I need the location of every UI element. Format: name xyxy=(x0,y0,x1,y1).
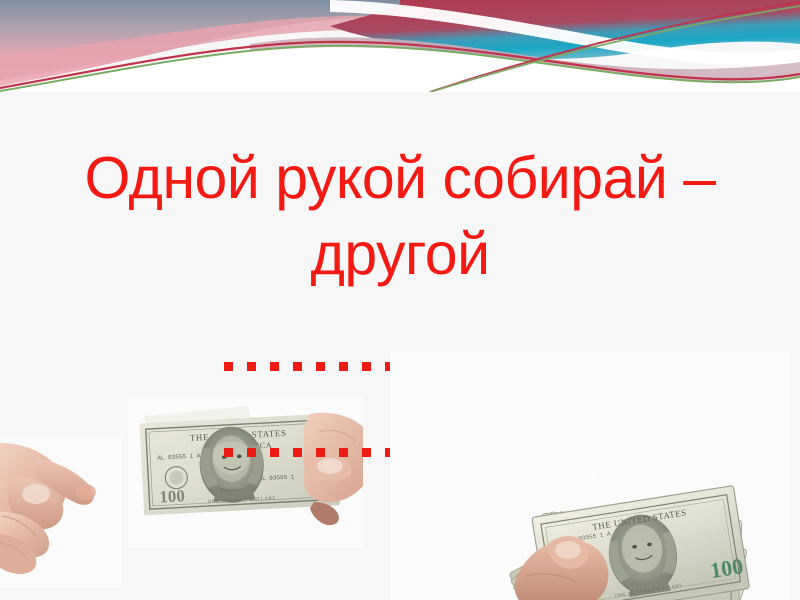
open-hand-reaching-image xyxy=(0,438,122,588)
ellipsis-dot xyxy=(339,362,348,371)
ellipsis-dot xyxy=(362,448,371,457)
presentation-slide: Одной рукой собирай – другой xyxy=(0,0,800,600)
fingernail xyxy=(22,484,50,504)
decorative-wave-banner xyxy=(0,0,800,92)
slide-title: Одной рукой собирай – другой xyxy=(20,140,780,292)
ellipsis-dot xyxy=(247,448,256,457)
bill-value-left: 100 xyxy=(159,486,185,506)
ellipsis-dot xyxy=(224,362,233,371)
hand-holding-bill-image: THE UNITED STATES OF AMERICA AL 03555 1 … xyxy=(128,398,363,548)
ellipsis-dot xyxy=(247,362,256,371)
stock-photo-watermark: 123RF xyxy=(551,469,621,491)
fan-of-bills-image: 100 100 100 xyxy=(390,352,790,600)
ellipsis-dot xyxy=(339,448,348,457)
ellipsis-dot xyxy=(270,448,279,457)
fan-bill-value: 100 xyxy=(708,553,745,583)
ellipsis-dot xyxy=(224,448,233,457)
ellipsis-dot xyxy=(293,362,302,371)
fan-thumbnail xyxy=(555,541,581,559)
index-fingertip xyxy=(76,484,96,500)
ellipsis-dot xyxy=(362,362,371,371)
thumbnail xyxy=(317,458,343,474)
bill-signature: Treasurer xyxy=(219,488,239,494)
ellipsis-dot xyxy=(316,448,325,457)
ellipsis-dot xyxy=(293,448,302,457)
ellipsis-dot xyxy=(316,362,325,371)
ellipsis-dot xyxy=(270,362,279,371)
